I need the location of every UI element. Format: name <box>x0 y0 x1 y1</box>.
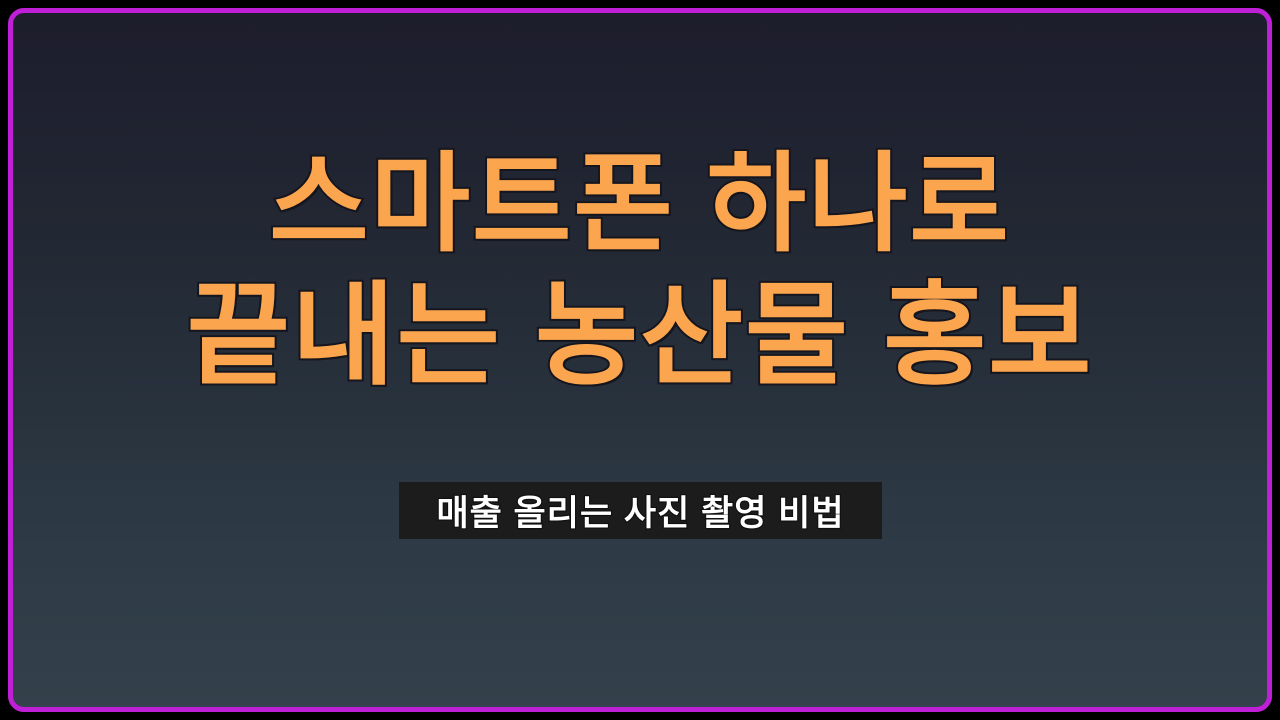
title-line-1: 스마트폰 하나로 <box>0 150 1280 258</box>
presentation-slide: 스마트폰 하나로 끝내는 농산물 홍보 매출 올리는 사진 촬영 비법 <box>0 0 1280 720</box>
subtitle-bar: 매출 올리는 사진 촬영 비법 <box>399 482 882 539</box>
subtitle-text: 매출 올리는 사진 촬영 비법 <box>436 485 844 536</box>
headline-block: 스마트폰 하나로 끝내는 농산물 홍보 <box>0 150 1280 392</box>
title-line-2: 끝내는 농산물 홍보 <box>0 280 1280 392</box>
